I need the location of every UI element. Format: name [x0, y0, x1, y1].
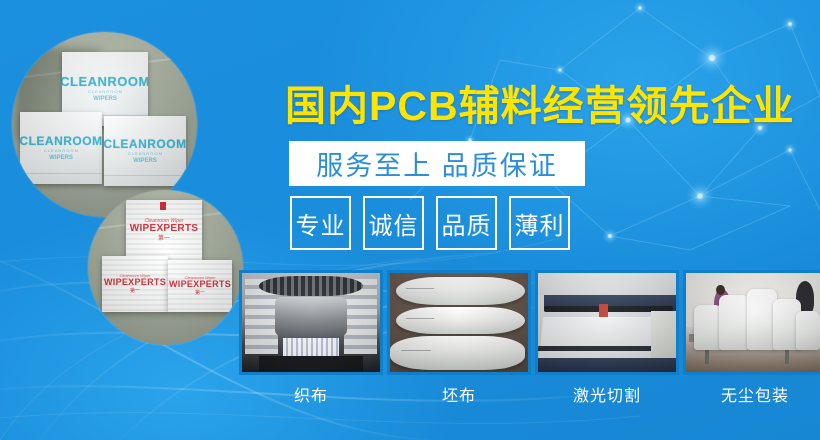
- thumbnail-caption: 激光切割: [535, 382, 679, 406]
- fabric-roll: [396, 307, 526, 335]
- cleanroom-line3: WIPERS: [49, 155, 73, 162]
- tag-label: 专业: [296, 206, 346, 241]
- wipexperts-bundle-right: Cleanroom Wiper WIPEXPERTS 第一: [168, 260, 232, 312]
- wipexperts-mark: 第一: [158, 236, 170, 242]
- thumbnail-image-cleanroom-packing[interactable]: [683, 270, 820, 375]
- side-panel: [651, 311, 676, 362]
- machine-crown: [259, 276, 364, 296]
- red-chip: [160, 202, 166, 210]
- cleanroom-pack-left: CLEANROOM C L E A N R O O M WIPERS: [20, 112, 102, 184]
- pack-stripe: [20, 173, 102, 174]
- thumbnail-image-laser-cutting[interactable]: [535, 270, 679, 375]
- back-wall: [538, 273, 676, 295]
- pack-stripe: [104, 175, 186, 176]
- headline-title: 国内PCB辅料经营领先企业: [285, 72, 795, 132]
- wipe-bundle: [719, 295, 749, 350]
- thumbnail-caption: 坯布: [387, 382, 531, 406]
- thumbnail-image-greige-fabric[interactable]: [387, 270, 531, 375]
- wipexperts-mark: 第一: [195, 291, 205, 296]
- cleanroom-line2: C L E A N R O O M: [88, 90, 122, 94]
- wipexperts-line1: Cleanroom Wiper: [119, 274, 150, 278]
- knitting-machine-photo: [242, 273, 380, 372]
- thumbnail-caption: 无尘包装: [683, 382, 820, 406]
- wipexperts-line1: Cleanroom Wiper: [184, 276, 215, 280]
- tag-row: 专业 诚信 品质 薄利: [290, 196, 570, 250]
- wipexperts-brand: WIPEXPERTS: [169, 280, 231, 289]
- promo-banner: CLEANROOM C L E A N R O O M WIPERS CLEAN…: [0, 0, 820, 440]
- cleanroom-brand: CLEANROOM: [104, 138, 186, 150]
- subtitle-text: 服务至上 品质保证: [316, 144, 558, 183]
- cleanroom-brand: CLEANROOM: [20, 135, 102, 147]
- process-thumbnail-strip: 织布 坯布: [239, 270, 820, 406]
- thumbnail-caption: 织布: [239, 382, 383, 406]
- cleanroom-pack-right: CLEANROOM C L E A N R O O M WIPERS: [104, 116, 186, 186]
- wipe-bundle: [796, 311, 819, 351]
- machine-cabinet: [538, 358, 676, 372]
- wipexperts-mark: 第一: [130, 289, 140, 294]
- fabric-roll: [390, 336, 525, 370]
- wipe-bundle: [694, 305, 722, 351]
- fabric-rolls-photo: [390, 273, 528, 372]
- machine-drum: [275, 297, 347, 337]
- tag-box-2[interactable]: 诚信: [363, 196, 424, 250]
- tag-box-3[interactable]: 品质: [436, 196, 497, 250]
- cleanroom-line2: C L E A N R O O M: [44, 149, 78, 153]
- wipexperts-bundle-left: Cleanroom Wiper WIPEXPERTS 第一: [102, 256, 168, 312]
- cleanroom-line2: C L E A N R O O M: [128, 152, 162, 156]
- wipexperts-brand: WIPEXPERTS: [104, 278, 166, 287]
- tag-box-1[interactable]: 专业: [290, 196, 351, 250]
- laser-head: [599, 304, 609, 318]
- product-photo-wipexperts: Cleanroom Wiper WIPEXPERTS 第一 Cleanroom …: [88, 190, 243, 345]
- tag-box-4[interactable]: 薄利: [509, 196, 570, 250]
- laser-cutter-photo: [538, 273, 676, 372]
- wipexperts-line1: Cleanroom Wiper: [145, 219, 184, 224]
- worker-head: [716, 285, 724, 295]
- wipexperts-brand: WIPEXPERTS: [130, 224, 199, 234]
- thumbnail-laser-cutting[interactable]: 激光切割: [535, 270, 679, 406]
- thumbnail-greige-fabric[interactable]: 坯布: [387, 270, 531, 406]
- subtitle-bar: 服务至上 品质保证: [289, 141, 585, 186]
- bed-rail: [538, 346, 668, 351]
- wipexperts-bundle-top: Cleanroom Wiper WIPEXPERTS 第一: [126, 200, 202, 260]
- cleanroom-line3: WIPERS: [133, 158, 157, 165]
- thumbnail-weaving[interactable]: 织布: [239, 270, 383, 406]
- tag-label: 诚信: [369, 206, 419, 241]
- machine-base: [259, 356, 364, 372]
- packing-room-photo: [686, 273, 820, 372]
- thumbnail-cleanroom-packing[interactable]: 无尘包装: [683, 270, 820, 406]
- thumbnail-image-weaving[interactable]: [239, 270, 383, 375]
- cleanroom-brand: CLEANROOM: [62, 75, 148, 88]
- tag-label: 薄利: [515, 206, 565, 241]
- cleanroom-line3: WIPERS: [93, 96, 117, 103]
- tag-label: 品质: [442, 206, 492, 241]
- fabric-roll: [396, 277, 526, 305]
